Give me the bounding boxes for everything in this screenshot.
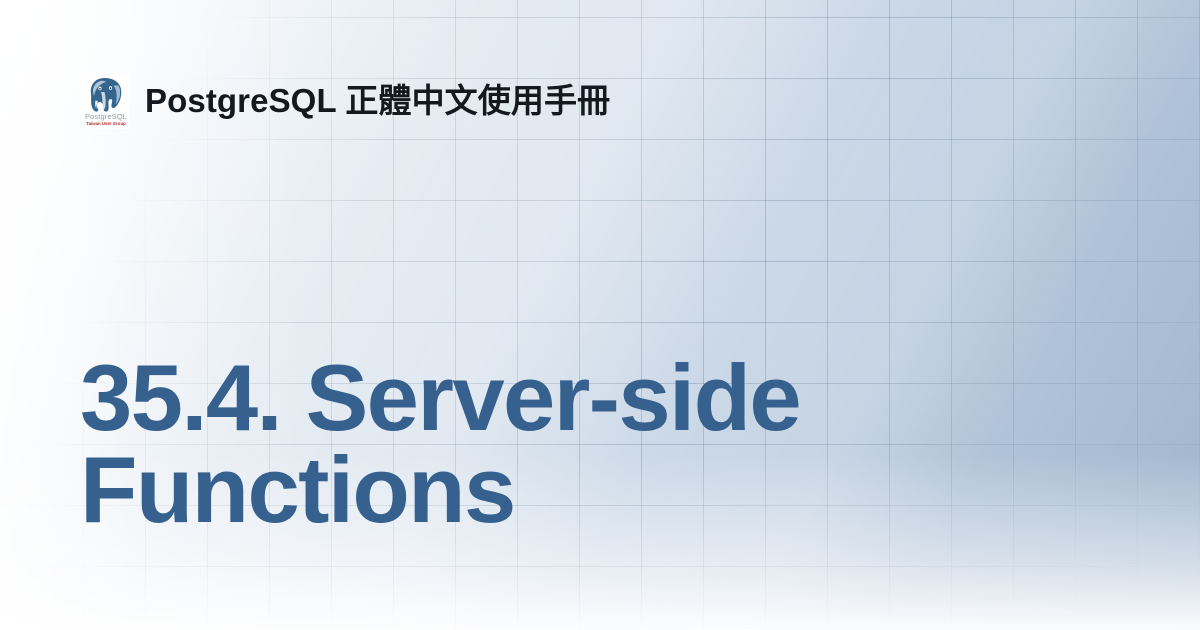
page-title: 35.4. Server-side Functions [80, 352, 980, 536]
site-header: PostgreSQL Taiwan User Group PostgreSQL … [82, 73, 610, 129]
postgresql-elephant-logo: PostgreSQL Taiwan User Group [82, 73, 130, 129]
og-card: PostgreSQL Taiwan User Group PostgreSQL … [0, 0, 1200, 630]
svg-text:Taiwan User Group: Taiwan User Group [86, 121, 126, 126]
svg-text:PostgreSQL: PostgreSQL [85, 112, 127, 121]
site-title: PostgreSQL 正體中文使用手冊 [145, 82, 610, 120]
